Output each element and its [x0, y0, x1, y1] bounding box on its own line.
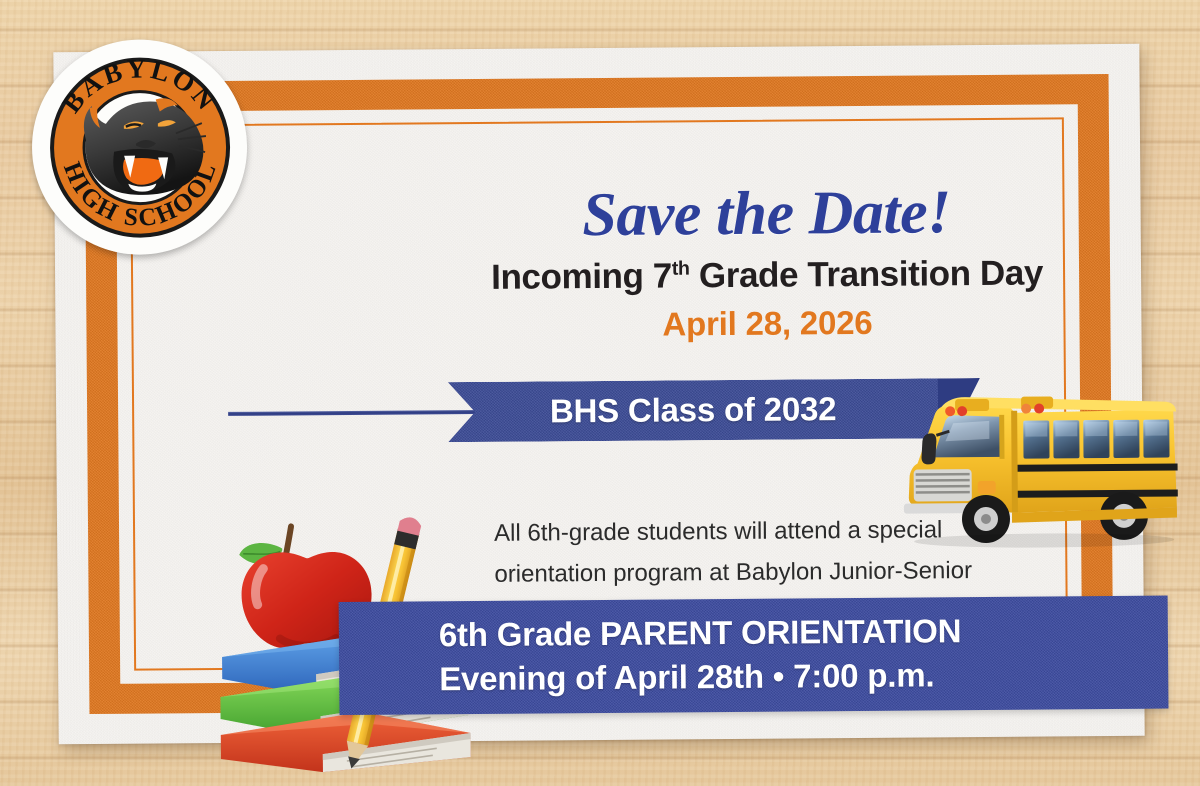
inner-white-field: Save the Date! Incoming 7th Grade Transi…	[116, 104, 1082, 684]
event-date: April 28, 2026	[417, 304, 1117, 342]
subtitle: Incoming 7th Grade Transition Day	[417, 255, 1117, 295]
school-logo: BABYLON HIGH SCHOOL	[31, 39, 248, 256]
class-ribbon-banner: BHS Class of 2032	[448, 378, 938, 442]
subtitle-pre: Incoming 7	[491, 256, 672, 296]
subtitle-post: Grade Transition Day	[689, 254, 1043, 296]
parent-orientation-time: Evening of April 28th • 7:00 p.m.	[439, 652, 1168, 702]
poster-stage: Save the Date! Incoming 7th Grade Transi…	[0, 0, 1200, 786]
school-bus-illustration	[893, 375, 1184, 567]
header-block: Save the Date! Incoming 7th Grade Transi…	[416, 180, 1117, 342]
parent-orientation-title: 6th Grade PARENT ORIENTATION	[439, 608, 1168, 658]
parent-orientation-block: 6th Grade PARENT ORIENTATION Evening of …	[339, 596, 1169, 716]
ribbon-label: BHS Class of 2032	[550, 390, 837, 430]
subtitle-ordinal-suffix: th	[672, 258, 690, 280]
save-the-date-card: Save the Date! Incoming 7th Grade Transi…	[53, 44, 1144, 745]
page-title: Save the Date!	[416, 180, 1116, 247]
